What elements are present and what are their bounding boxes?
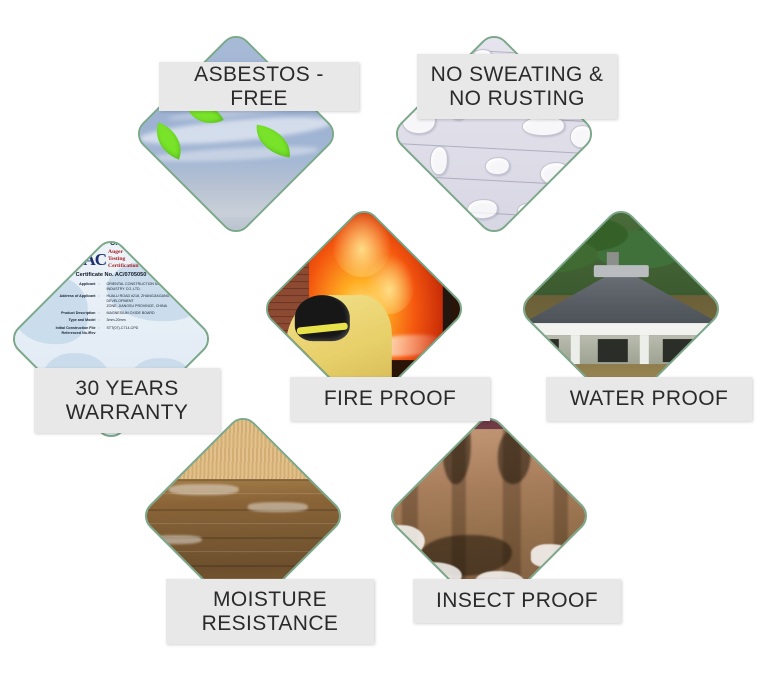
certificate-logo-mark: AC bbox=[83, 251, 106, 268]
certificate-row-key: Type and Model bbox=[10, 318, 99, 323]
certificate-row-separator: : bbox=[99, 282, 107, 292]
certificate-field-list: Applicant : ORIENTAL CONSTRUCTION MATERI… bbox=[10, 282, 213, 336]
certificate-row: Product Description : MAGNESIUM OXIDE BO… bbox=[10, 311, 213, 316]
certificate-row-value: STT(07)-C714-CPD bbox=[106, 325, 212, 335]
diamond-asbestos-free bbox=[131, 29, 340, 238]
certificate-row-value: ORIENTAL CONSTRUCTION MATERIAL INDUSTRY … bbox=[106, 282, 212, 292]
feature-card-insect-proof[interactable]: INSECT PROOF bbox=[396, 423, 646, 673]
certificate-row-value: 3mm-20mm bbox=[106, 318, 212, 323]
feature-label-water-proof: WATER PROOF bbox=[546, 377, 752, 421]
certificate-row-key: Applicant bbox=[10, 282, 99, 292]
feature-label-fire-proof: FIRE PROOF bbox=[290, 377, 490, 421]
feature-label-no-sweating: NO SWEATING & NO RUSTING bbox=[417, 54, 617, 119]
feature-label-moisture: MOISTURE RESISTANCE bbox=[166, 579, 374, 644]
feature-card-moisture[interactable]: MOISTURE RESISTANCE bbox=[150, 423, 400, 673]
certificate-row-separator: : bbox=[99, 294, 107, 309]
feature-grid: ASBESTOS - FREE bbox=[0, 0, 770, 662]
helmet-icon bbox=[295, 295, 350, 341]
certificate-row-key: Product Description bbox=[10, 311, 99, 316]
certificate-row-value: MAGNESIUM OXIDE BOARD bbox=[106, 311, 212, 316]
certificate-logo-lines: Auger Testing Certification bbox=[108, 249, 138, 270]
certificate-row: Address of Applicant : HUALU ROAD #218, … bbox=[10, 294, 213, 309]
certificate-row-separator: : bbox=[99, 318, 107, 323]
certificate-number: Certificate No. AC/0705050 bbox=[10, 272, 213, 278]
certificate-row-key: Initial Construction File Referenced No.… bbox=[10, 325, 99, 335]
certificate-row-separator: : bbox=[99, 311, 107, 316]
feature-label-insect-proof: INSECT PROOF bbox=[413, 579, 621, 623]
certificate-row-key: Address of Applicant bbox=[10, 294, 99, 309]
certificate-row-separator: : bbox=[99, 325, 107, 335]
board-with-leaves-image bbox=[131, 29, 340, 238]
certificate-row-value: HUALU ROAD #218, ZHANGJIAGANG ECONOMIC D… bbox=[106, 294, 212, 309]
feature-label-asbestos-free: ASBESTOS - FREE bbox=[159, 62, 359, 111]
certificate-row: Applicant : ORIENTAL CONSTRUCTION MATERI… bbox=[10, 282, 213, 292]
certificate-row: Type and Model : 3mm-20mm bbox=[10, 318, 213, 323]
certificate-logo: AC Auger Testing Certification bbox=[10, 249, 213, 270]
feature-label-warranty: 30 YEARS WARRANTY bbox=[34, 368, 220, 433]
certificate-row: Initial Construction File Referenced No.… bbox=[10, 325, 213, 335]
